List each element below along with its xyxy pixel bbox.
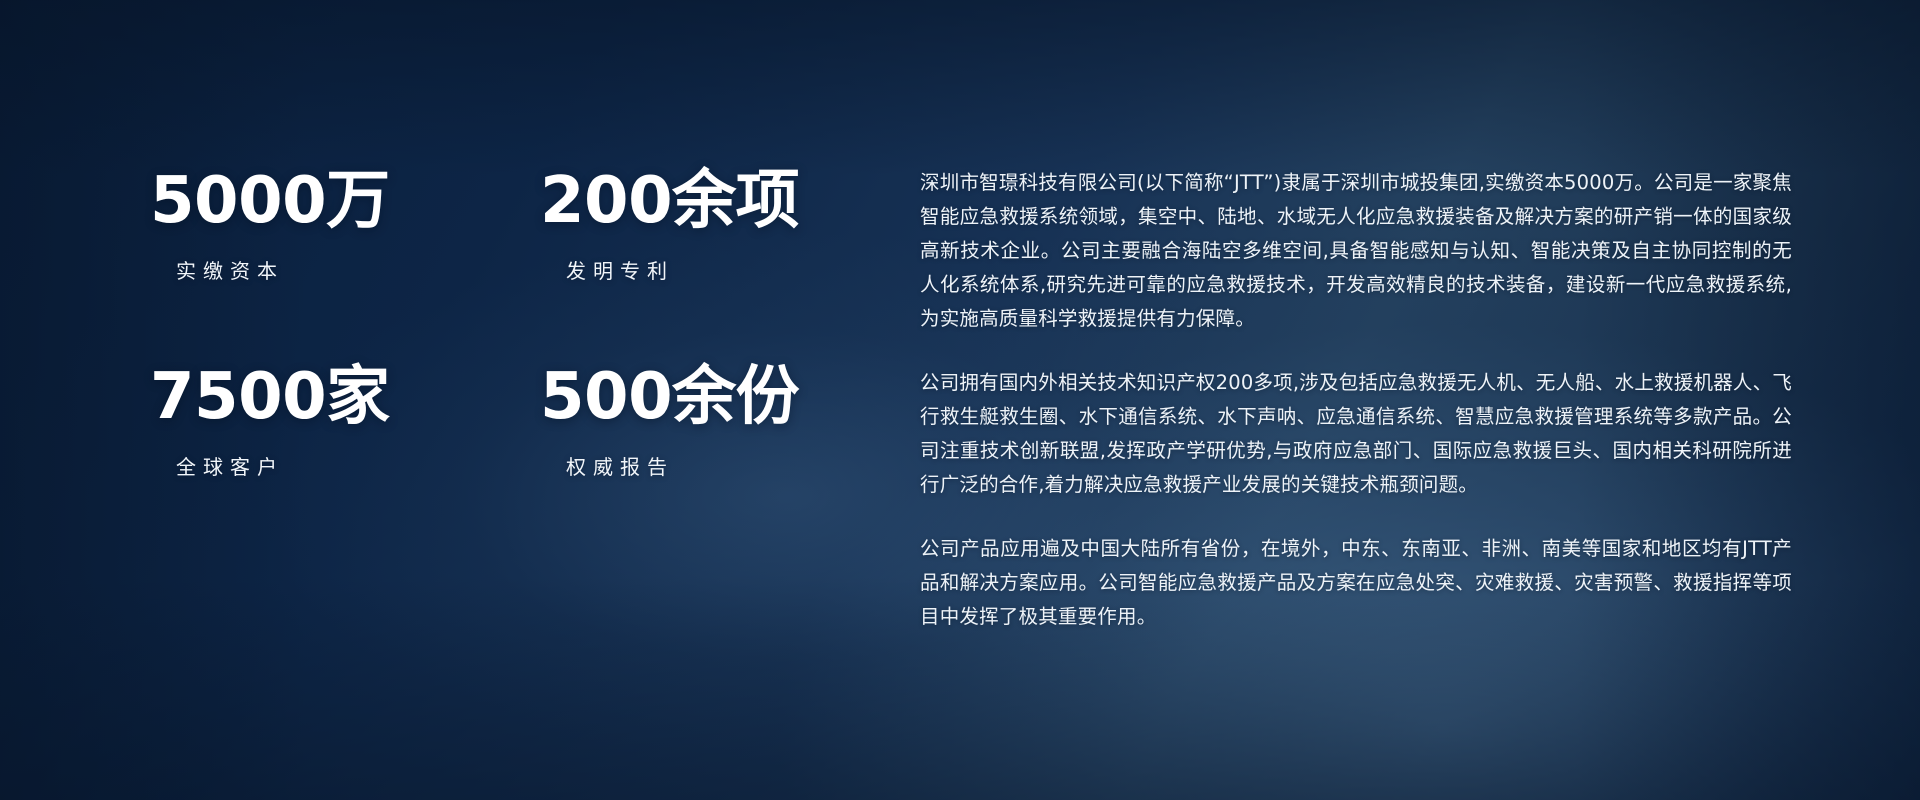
statistics-grid: 5000万 实缴资本 200余项 发明专利 7500家 全球客户 500余份 权… bbox=[150, 168, 850, 480]
description-paragraph: 公司拥有国内外相关技术知识产权200多项,涉及包括应急救援无人机、无人船、水上救… bbox=[920, 366, 1792, 502]
description-paragraph: 公司产品应用遍及中国大陆所有省份，在境外，中东、东南亚、非洲、南美等国家和地区均… bbox=[920, 532, 1792, 634]
company-description: 深圳市智璟科技有限公司(以下简称“JTT”)隶属于深圳市城投集团,实缴资本500… bbox=[920, 166, 1792, 634]
stat-label: 全球客户 bbox=[176, 451, 540, 480]
stat-label: 实缴资本 bbox=[176, 255, 540, 284]
stat-label: 权威报告 bbox=[566, 451, 850, 480]
stat-label: 发明专利 bbox=[566, 255, 850, 284]
slide-stage: 5000万 实缴资本 200余项 发明专利 7500家 全球客户 500余份 权… bbox=[0, 0, 1920, 800]
stat-value: 500余份 bbox=[540, 364, 850, 431]
stat-item-authoritative-reports: 500余份 权威报告 bbox=[540, 364, 850, 480]
stat-value: 7500家 bbox=[150, 364, 540, 431]
stat-item-paid-in-capital: 5000万 实缴资本 bbox=[150, 168, 540, 364]
stat-value: 200余项 bbox=[540, 168, 850, 235]
stat-value: 5000万 bbox=[150, 168, 540, 235]
stat-item-global-customers: 7500家 全球客户 bbox=[150, 364, 540, 480]
description-paragraph: 深圳市智璟科技有限公司(以下简称“JTT”)隶属于深圳市城投集团,实缴资本500… bbox=[920, 166, 1792, 336]
slide-content: 5000万 实缴资本 200余项 发明专利 7500家 全球客户 500余份 权… bbox=[0, 0, 1920, 800]
stat-item-invention-patents: 200余项 发明专利 bbox=[540, 168, 850, 364]
